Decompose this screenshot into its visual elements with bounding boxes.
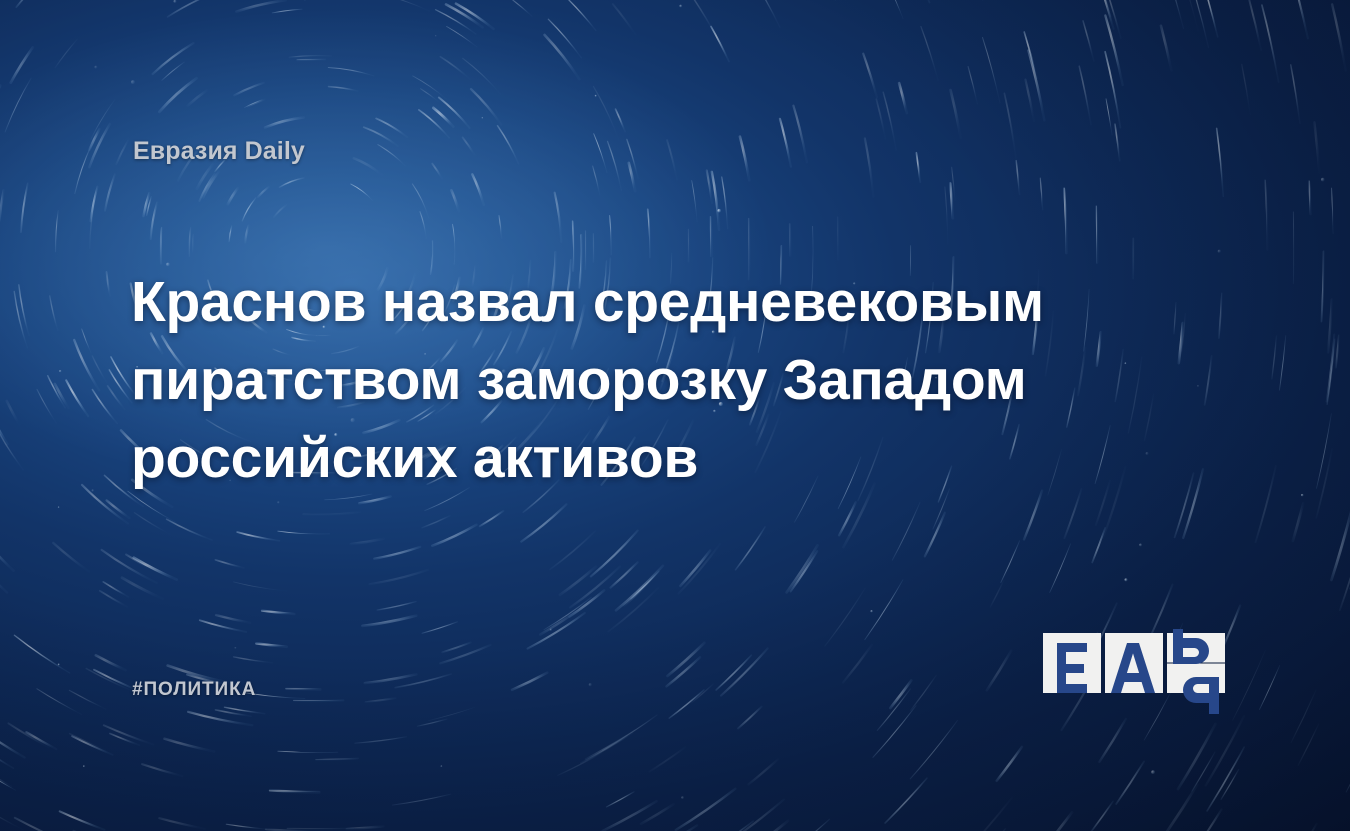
logo-tile-e xyxy=(1043,633,1101,693)
share-card: Евразия Daily Краснов назвал средневеков… xyxy=(0,0,1350,831)
ead-logo xyxy=(1043,629,1225,721)
category-tag: #ПОЛИТИКА xyxy=(132,679,256,701)
brand-label: Евразия Daily xyxy=(133,137,305,166)
logo-tile-d xyxy=(1167,629,1225,714)
logo-tile-a xyxy=(1105,633,1163,693)
page-title: Краснов назвал средневековым пиратством … xyxy=(131,263,1061,497)
